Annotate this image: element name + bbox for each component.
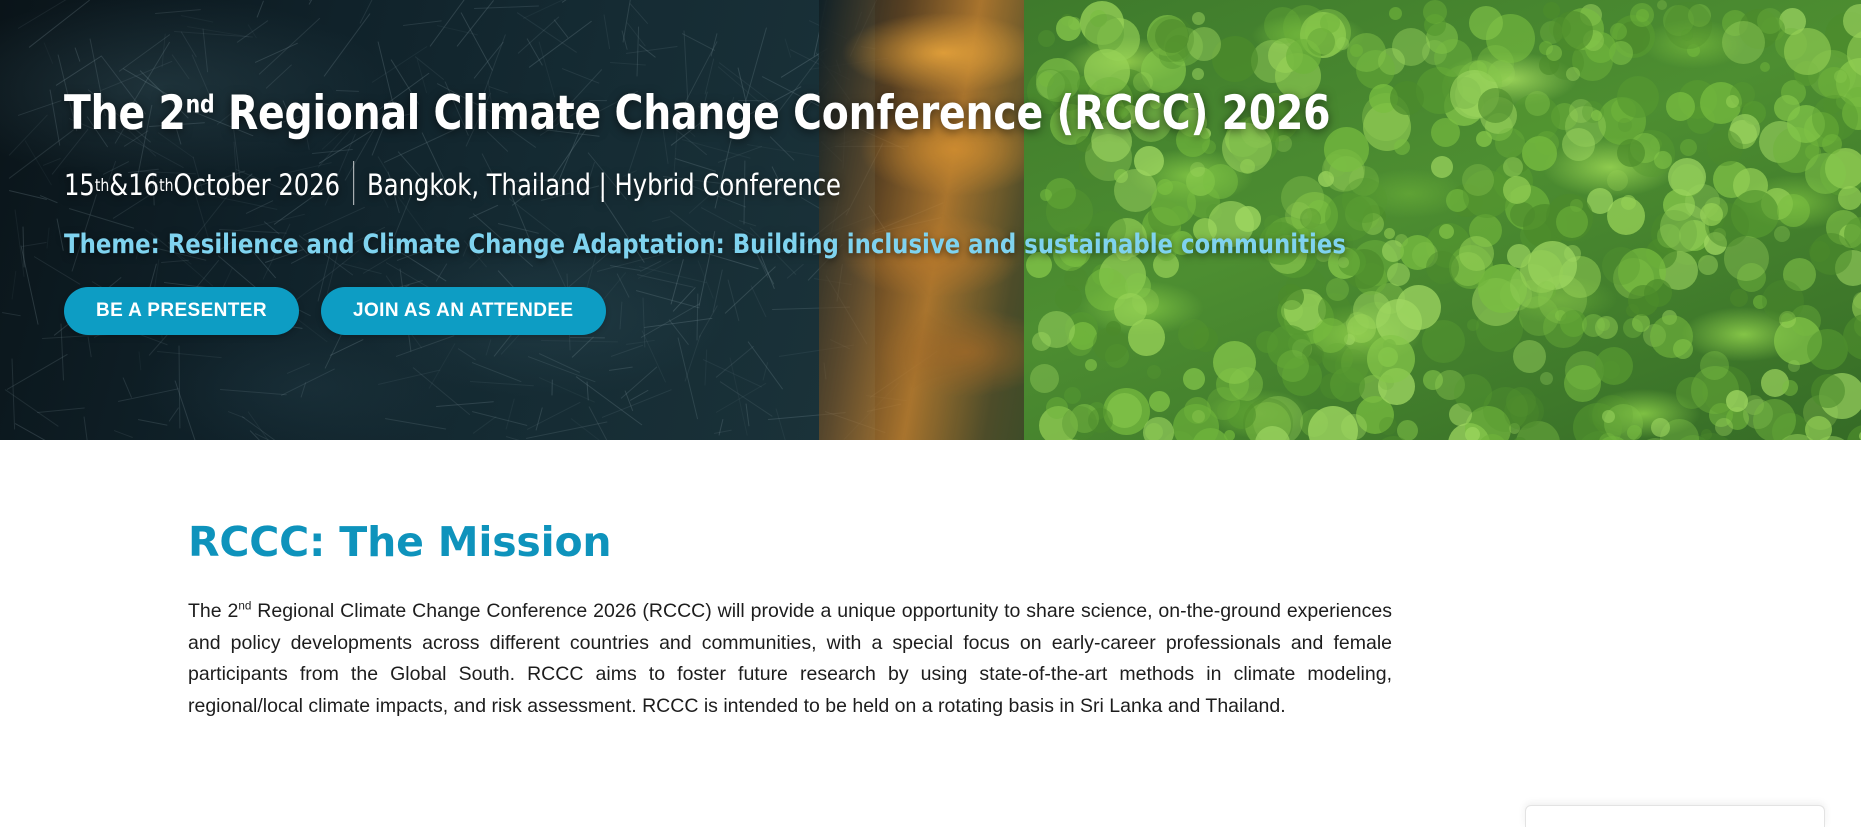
date-month-year: October 2026 <box>174 168 341 202</box>
title-rest: Regional Climate Change Conference (RCCC… <box>214 86 1330 141</box>
vertical-divider <box>353 161 354 205</box>
mission-paragraph: The 2nd Regional Climate Change Conferen… <box>188 596 1392 722</box>
conference-theme: Theme: Resilience and Climate Change Ada… <box>64 229 1753 260</box>
hero-banner: The 2nd Regional Climate Change Conferen… <box>0 0 1861 440</box>
conference-title: The 2nd Regional Climate Change Conferen… <box>64 88 1735 141</box>
date-ordinal-second: th <box>159 175 173 195</box>
conference-location: Bangkok, Thailand | Hybrid Conference <box>367 168 841 202</box>
corner-widget-partial[interactable] <box>1525 805 1825 827</box>
mission-body-rest: Regional Climate Change Conference 2026 … <box>188 600 1392 717</box>
main-content: RCCC: The Mission The 2nd Regional Clima… <box>0 440 1861 722</box>
hero-content: The 2nd Regional Climate Change Conferen… <box>0 0 1861 440</box>
mission-body-prefix: The 2 <box>188 600 238 622</box>
page-root: The 2nd Regional Climate Change Conferen… <box>0 0 1861 827</box>
be-a-presenter-button[interactable]: BE A PRESENTER <box>64 287 299 335</box>
mission-heading: RCCC: The Mission <box>188 518 1392 566</box>
join-as-attendee-button[interactable]: JOIN AS AN ATTENDEE <box>321 287 606 335</box>
date-ordinal-first: th <box>95 175 109 195</box>
title-prefix: The 2 <box>64 86 186 141</box>
date-day-first: 15 <box>64 168 95 202</box>
date-ampersand: &16 <box>109 168 159 202</box>
conference-date-location: 15th &16th October 2026 Bangkok, Thailan… <box>64 163 1735 207</box>
title-ordinal-suffix: nd <box>186 89 215 118</box>
hero-cta-group: BE A PRESENTER JOIN AS AN ATTENDEE <box>64 287 1861 335</box>
mission-section: RCCC: The Mission The 2nd Regional Clima… <box>188 518 1392 722</box>
mission-ordinal-suffix: nd <box>238 600 251 613</box>
